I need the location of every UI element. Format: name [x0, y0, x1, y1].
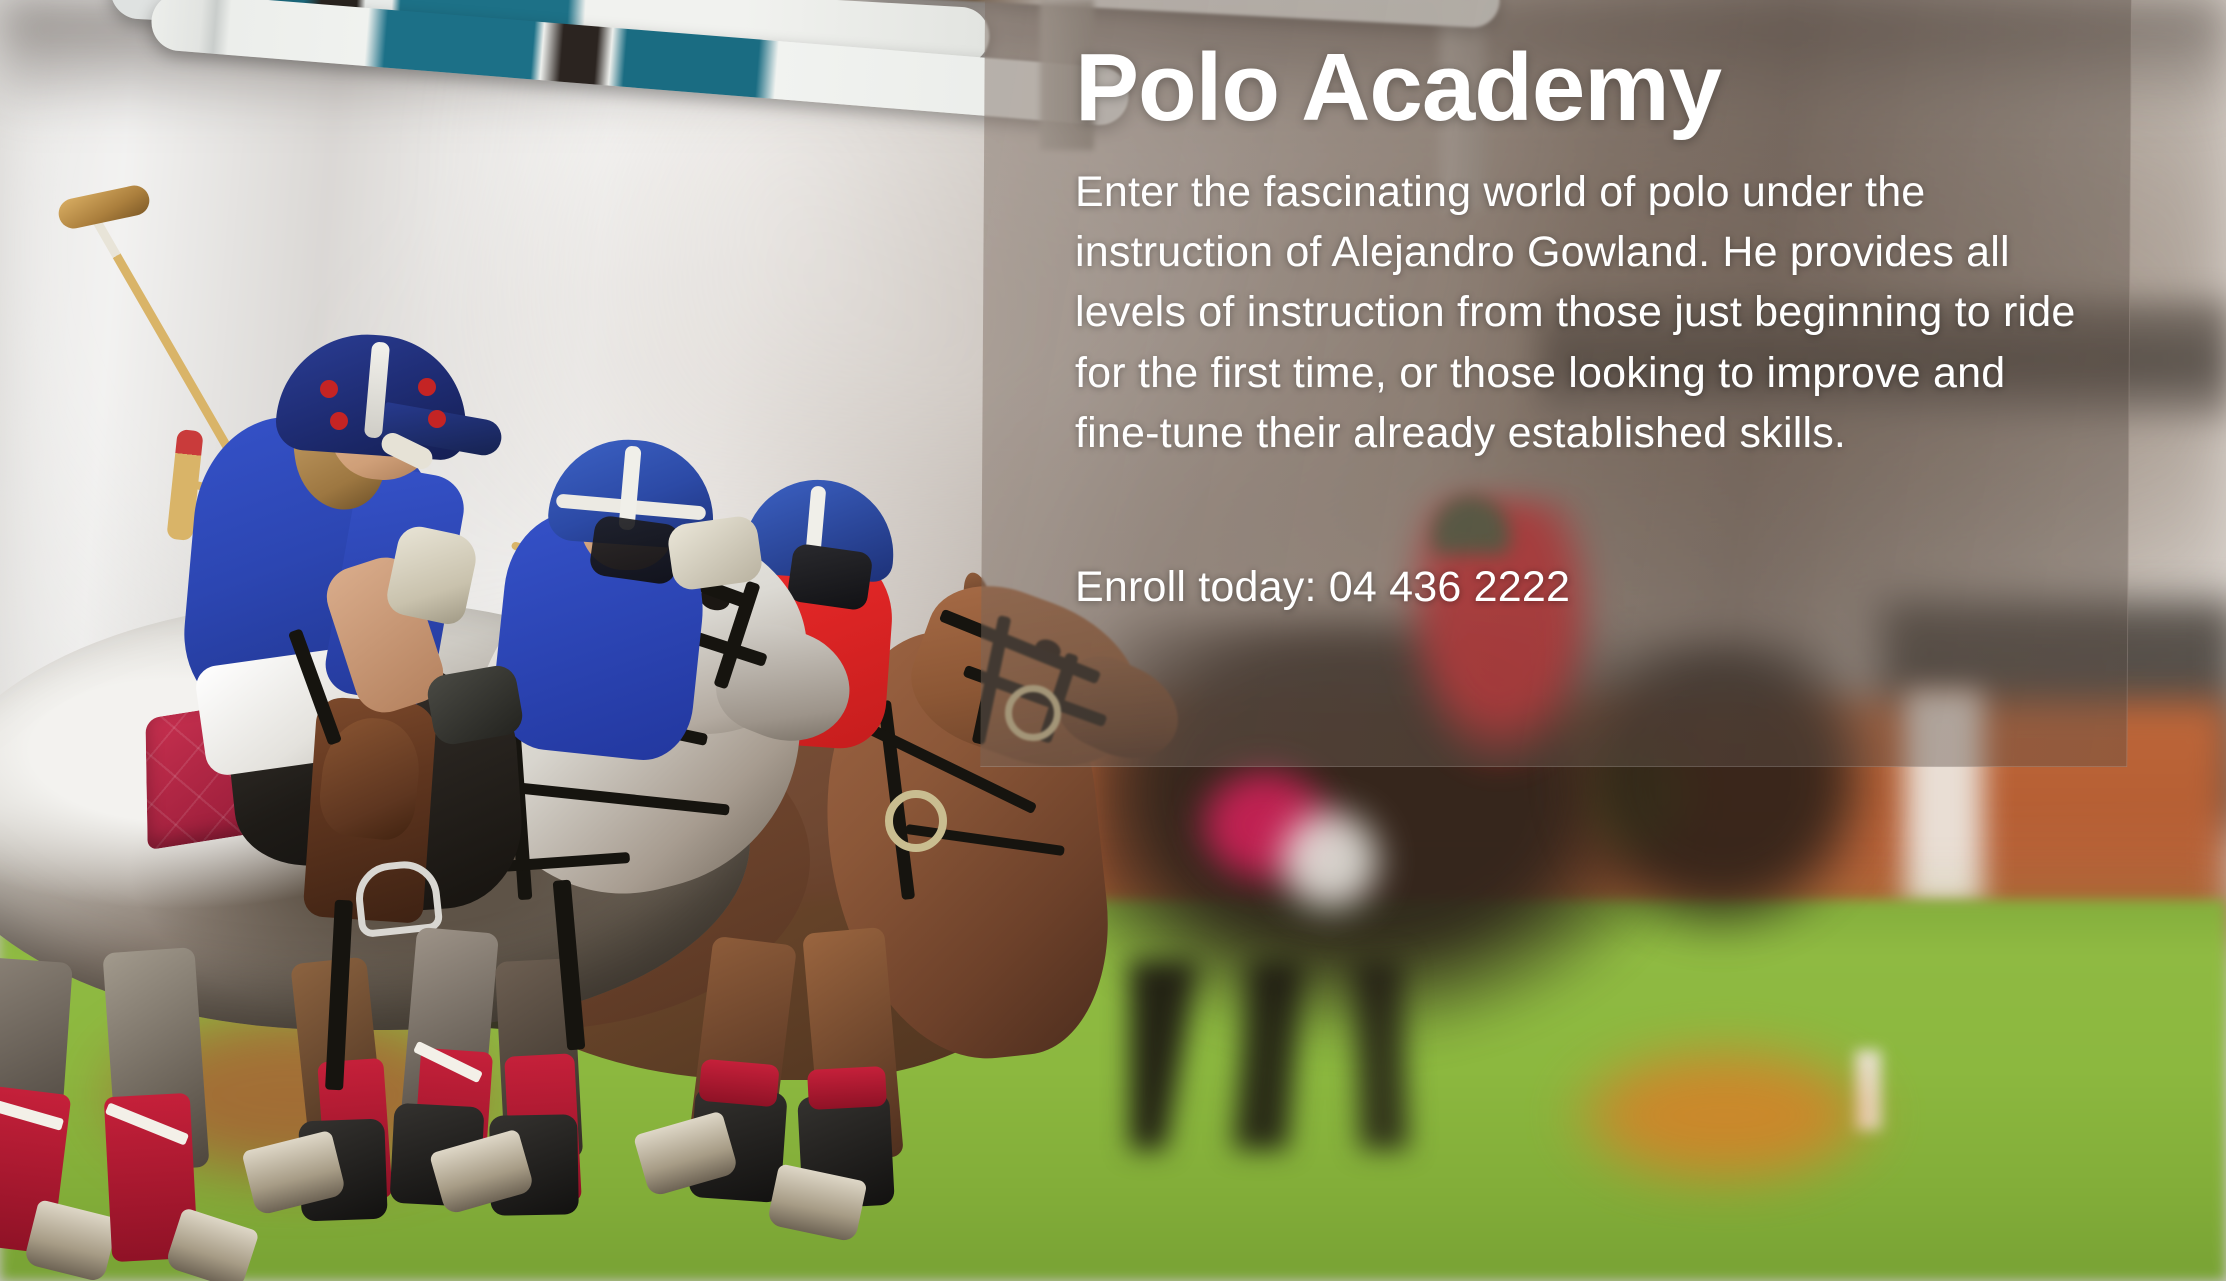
horse-hoof — [164, 1207, 259, 1281]
background-orange-blur — [1560, 1040, 1890, 1190]
rider-3-face-guard — [786, 543, 873, 612]
body-paragraph: Enter the fascinating world of polo unde… — [1075, 162, 2085, 463]
enroll-cta[interactable]: Enroll today: 04 436 2222 — [1075, 563, 2085, 612]
rider-1-helmet-vent — [320, 380, 338, 398]
rider-1-helmet-vent — [330, 412, 348, 430]
bridle-ring-left — [885, 790, 947, 852]
background-rider-white — [1270, 800, 1390, 920]
polo-academy-poster: Polo Academy Enter the fascinating world… — [0, 0, 2226, 1281]
leg-wrap-red — [698, 1059, 779, 1108]
horse-hoof — [23, 1199, 119, 1281]
rider-1-helmet-vent — [418, 378, 436, 396]
leg-wrap-red — [807, 1066, 887, 1110]
rider-1-helmet-vent — [428, 410, 446, 428]
page-title: Polo Academy — [1075, 40, 2085, 136]
rider-2-face-guard — [588, 514, 682, 585]
poster-copy: Polo Academy Enter the fascinating world… — [1075, 40, 2085, 655]
rider-2-glove — [666, 514, 764, 592]
